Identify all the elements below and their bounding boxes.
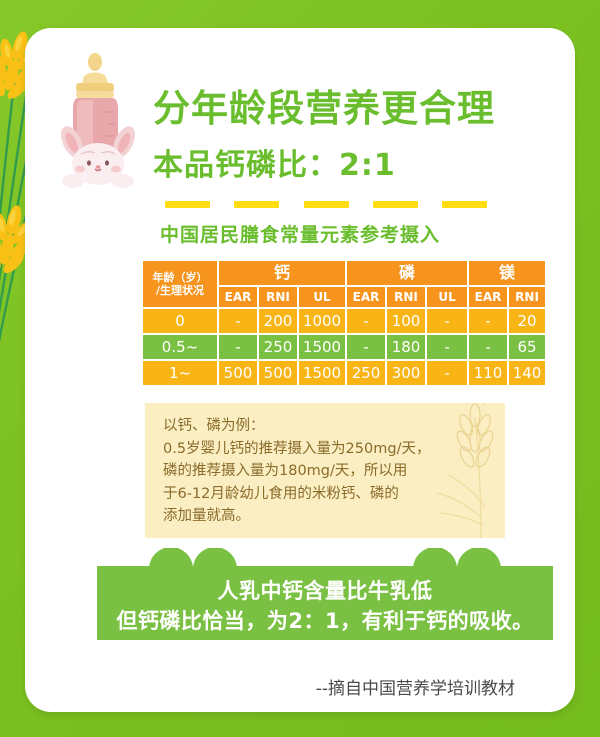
cell: 250 (259, 335, 297, 359)
cell: 1500 (299, 361, 345, 385)
baby-bottle-bunny-icon (47, 50, 155, 190)
cell: 500 (219, 361, 257, 385)
cell: - (427, 309, 467, 333)
table-body: 0 - 200 1000 - 100 - - 20 0.5~ - 250 (143, 309, 545, 385)
cell: - (347, 309, 385, 333)
sub-header-3: EAR (347, 287, 385, 307)
cell: 1000 (299, 309, 345, 333)
cell: 300 (387, 361, 425, 385)
table-row: 0 - 200 1000 - 100 - - 20 (143, 309, 545, 333)
cell: - (347, 335, 385, 359)
cell: 140 (509, 361, 545, 385)
sub-header-6: EAR (469, 287, 507, 307)
table-row: 0.5~ - 250 1500 - 180 - - 65 (143, 335, 545, 359)
row-age: 0 (143, 309, 217, 333)
cell: 20 (509, 309, 545, 333)
example-note-box: 以钙、磷为例： 0.5岁婴儿钙的推荐摄入量为250mg/天， 磷的推荐摄入量为1… (145, 403, 505, 538)
element-header-calcium: 钙 (219, 261, 345, 285)
cell: 500 (259, 361, 297, 385)
dash-5 (442, 201, 487, 208)
cell: - (427, 335, 467, 359)
sub-header-7: RNI (509, 287, 545, 307)
table-caption: 中国居民膳食常量元素参考摄入 (25, 220, 575, 247)
table-header-row-elements: 年龄（岁） /生理状况 钙 磷 镁 (143, 261, 545, 285)
element-header-phosphorus: 磷 (347, 261, 467, 285)
sub-header-2: UL (299, 287, 345, 307)
row-age: 0.5~ (143, 335, 217, 359)
highlight-banner: 人乳中钙含量比牛乳低 但钙磷比恰当，为2：1，有利于钙的吸收。 (97, 548, 553, 640)
nutrition-table-wrap: 年龄（岁） /生理状况 钙 磷 镁 EAR RNI UL EAR RNI UL (141, 259, 509, 387)
nutrition-table: 年龄（岁） /生理状况 钙 磷 镁 EAR RNI UL EAR RNI UL (141, 259, 547, 387)
dash-2 (234, 201, 279, 208)
source-citation: --摘自中国营养学培训教材 (316, 674, 515, 699)
cell: - (427, 361, 467, 385)
sub-header-1: RNI (259, 287, 297, 307)
age-header-line2: /生理状况 (143, 284, 217, 297)
dash-4 (373, 201, 418, 208)
example-note-text: 以钙、磷为例： 0.5岁婴儿钙的推荐摄入量为250mg/天， 磷的推荐摄入量为1… (163, 415, 455, 528)
cell: - (469, 309, 507, 333)
cell: - (219, 335, 257, 359)
table-row: 1~ 500 500 1500 250 300 - 110 140 (143, 361, 545, 385)
cell: 110 (469, 361, 507, 385)
row-age: 1~ (143, 361, 217, 385)
poster-root: 分年龄段营养更合理 本品钙磷比：2:1 中国居民膳食常量元素参考摄入 (0, 0, 600, 737)
age-header-cell: 年龄（岁） /生理状况 (143, 261, 217, 307)
highlight-banner-text: 人乳中钙含量比牛乳低 但钙磷比恰当，为2：1，有利于钙的吸收。 (97, 576, 553, 636)
dash-3 (304, 201, 349, 208)
dash-1 (165, 201, 210, 208)
divider-dashes (165, 201, 487, 208)
element-header-magnesium: 镁 (469, 261, 545, 285)
content-card: 分年龄段营养更合理 本品钙磷比：2:1 中国居民膳食常量元素参考摄入 (25, 28, 575, 712)
cell: 1500 (299, 335, 345, 359)
cell: - (219, 309, 257, 333)
cell: 180 (387, 335, 425, 359)
page-subtitle: 本品钙磷比：2:1 (153, 151, 396, 181)
sub-header-5: UL (427, 287, 467, 307)
page-title: 分年龄段营养更合理 (153, 90, 495, 127)
table-head: 年龄（岁） /生理状况 钙 磷 镁 EAR RNI UL EAR RNI UL (143, 261, 545, 307)
cell: 100 (387, 309, 425, 333)
cell: 200 (259, 309, 297, 333)
cell: 65 (509, 335, 545, 359)
age-header-line1: 年龄（岁） (143, 271, 217, 284)
sub-header-0: EAR (219, 287, 257, 307)
sub-header-4: RNI (387, 287, 425, 307)
cell: - (469, 335, 507, 359)
cell: 250 (347, 361, 385, 385)
